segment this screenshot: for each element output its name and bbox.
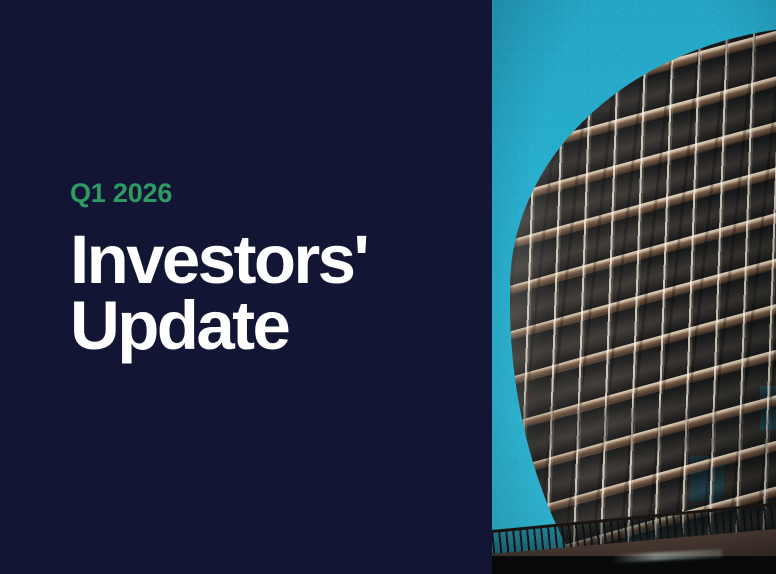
tower-building (510, 26, 776, 574)
slide-headline: Investors' Update (70, 227, 470, 359)
title-text-block: Q1 2026 Investors' Update (70, 178, 470, 360)
title-slide: Q1 2026 Investors' Update (0, 0, 776, 574)
slide-eyebrow: Q1 2026 (70, 178, 470, 209)
tower-curvature-shading (510, 26, 776, 574)
title-text-panel: Q1 2026 Investors' Update (0, 0, 492, 574)
cover-photo (492, 0, 776, 574)
